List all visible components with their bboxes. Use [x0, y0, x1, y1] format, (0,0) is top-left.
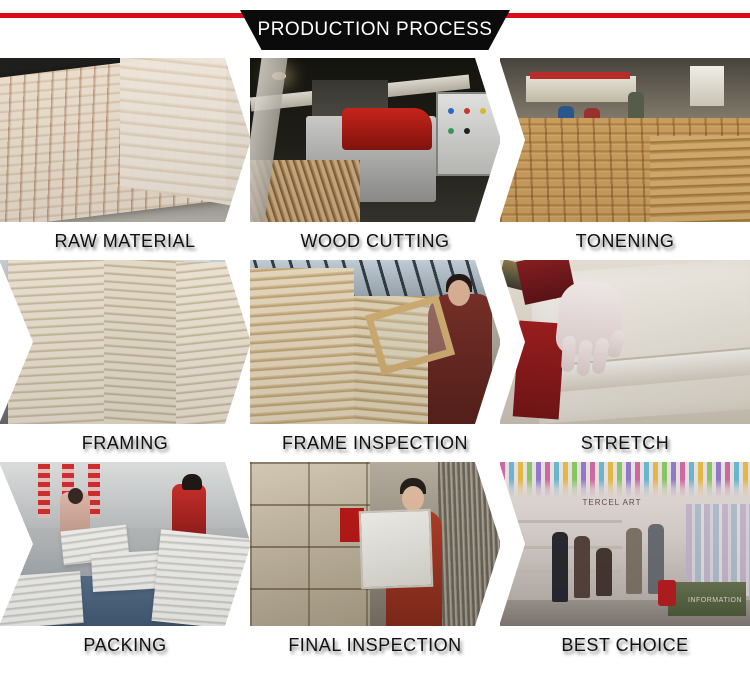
step-label: PACKING [83, 635, 166, 656]
label-box-raw-material: RAW MATERIAL [0, 222, 250, 260]
process-labels-row-3: PACKING FINAL INSPECTION BEST CHOICE [0, 626, 750, 664]
photo-stretch [500, 260, 750, 424]
process-cell-framing[interactable] [0, 260, 250, 424]
step-label: TONENING [576, 231, 675, 252]
photo-vignette [500, 260, 750, 424]
process-cell-stretch[interactable] [500, 260, 750, 424]
step-label: FRAME INSPECTION [282, 433, 468, 454]
process-labels-row-1: RAW MATERIAL WOOD CUTTING TONENING [0, 222, 750, 260]
label-box-framing: FRAMING [0, 424, 250, 462]
step-label: BEST CHOICE [561, 635, 688, 656]
process-cell-final-inspection[interactable] [250, 462, 500, 626]
photo-vignette [500, 462, 750, 626]
process-cell-wood-cutting[interactable] [250, 58, 500, 222]
photo-final-inspection [250, 462, 500, 626]
process-cell-tonening[interactable] [500, 58, 750, 222]
label-box-frame-inspection: FRAME INSPECTION [250, 424, 500, 462]
photo-vignette [250, 260, 500, 424]
photo-vignette [0, 260, 250, 424]
banner-title: PRODUCTION PROCESS [258, 19, 493, 41]
photo-packing [0, 462, 250, 626]
photo-raw-material [0, 58, 250, 222]
production-process-banner: PRODUCTION PROCESS [240, 10, 510, 50]
photo-wood-cutting [250, 58, 500, 222]
label-box-best-choice: BEST CHOICE [500, 626, 750, 664]
process-row-1 [0, 58, 750, 222]
process-grid: RAW MATERIAL WOOD CUTTING TONENING [0, 58, 750, 664]
label-box-stretch: STRETCH [500, 424, 750, 462]
photo-vignette [250, 462, 500, 626]
photo-vignette [0, 58, 250, 222]
process-cell-raw-material[interactable] [0, 58, 250, 222]
process-row-2 [0, 260, 750, 424]
process-cell-best-choice[interactable]: TERCEL ART INFORMATION [500, 462, 750, 626]
photo-framing [0, 260, 250, 424]
process-row-3: TERCEL ART INFORMATION [0, 462, 750, 626]
photo-vignette [500, 58, 750, 222]
step-label: FINAL INSPECTION [288, 635, 461, 656]
step-label: STRETCH [581, 433, 670, 454]
label-box-tonening: TONENING [500, 222, 750, 260]
label-box-wood-cutting: WOOD CUTTING [250, 222, 500, 260]
photo-vignette [0, 462, 250, 626]
label-box-packing: PACKING [0, 626, 250, 664]
page-header: PRODUCTION PROCESS [0, 0, 750, 58]
photo-tonening [500, 58, 750, 222]
photo-vignette [250, 58, 500, 222]
photo-best-choice: TERCEL ART INFORMATION [500, 462, 750, 626]
label-box-final-inspection: FINAL INSPECTION [250, 626, 500, 664]
step-label: FRAMING [82, 433, 169, 454]
process-labels-row-2: FRAMING FRAME INSPECTION STRETCH [0, 424, 750, 462]
step-label: RAW MATERIAL [54, 231, 195, 252]
process-cell-packing[interactable] [0, 462, 250, 626]
step-label: WOOD CUTTING [301, 231, 450, 252]
photo-frame-inspection [250, 260, 500, 424]
process-cell-frame-inspection[interactable] [250, 260, 500, 424]
